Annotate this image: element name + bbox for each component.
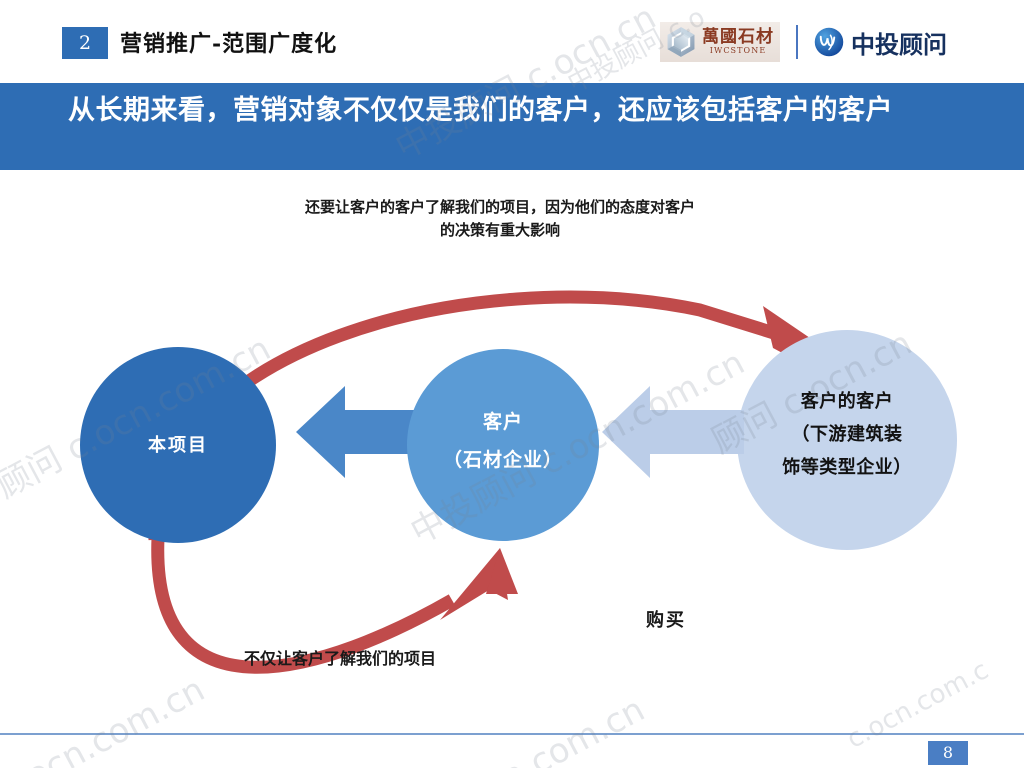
note-top: 还要让客户的客户了解我们的项目，因为他们的态度对客户的决策有重大影响 xyxy=(300,196,700,242)
note-bottom: 不仅让客户了解我们的项目 xyxy=(175,648,505,670)
slide-header: 2 营销推广-范围广度化 xyxy=(0,0,1024,83)
slide-title: 从长期来看，营销对象不仅仅是我们的客户，还应该包括客户的客户 xyxy=(68,92,964,129)
arrow-customer-to-project-label: 购买 xyxy=(310,606,390,632)
logo-ocn-consulting: 中投顾问 xyxy=(814,25,947,60)
footer-rule xyxy=(0,733,1024,735)
circle-monogram-icon xyxy=(814,27,844,57)
ocn-consulting-wordmark: 中投顾问 xyxy=(851,25,947,60)
node-end-customer[interactable] xyxy=(737,330,957,550)
arrow-enduser-to-customer-label: 购买 xyxy=(626,606,706,632)
gem-hexagon-icon xyxy=(664,25,698,59)
diagram-area: 还要让客户的客户了解我们的项目，因为他们的态度对客户的决策有重大影响 不仅让客户… xyxy=(0,170,1024,700)
iwcstone-wordmark: 萬國石材 IWCSTONE xyxy=(702,28,774,56)
section-number-badge: 2 xyxy=(62,27,108,59)
node-project[interactable] xyxy=(80,347,276,543)
iwcstone-name-en: IWCSTONE xyxy=(710,46,767,56)
page-number-badge: 8 xyxy=(928,741,968,765)
title-banner: 从长期来看，营销对象不仅仅是我们的客户，还应该包括客户的客户 xyxy=(0,83,1024,170)
iwcstone-name-cn: 萬國石材 xyxy=(702,28,774,46)
node-customer[interactable] xyxy=(407,349,599,541)
arrow-enduser-to-customer[interactable] xyxy=(602,386,744,478)
slide-canvas: 2 营销推广-范围广度化 xyxy=(0,0,1024,768)
diagram-graphics xyxy=(0,170,1024,700)
logo-iwcstone: 萬國石材 IWCSTONE xyxy=(660,22,780,62)
logo-group: 萬國石材 IWCSTONE 中投顾问 xyxy=(660,16,947,68)
watermark-text: c.ocn.com.cn xyxy=(434,690,651,768)
logo-divider xyxy=(796,25,798,59)
section-title: 营销推广-范围广度化 xyxy=(120,26,337,58)
